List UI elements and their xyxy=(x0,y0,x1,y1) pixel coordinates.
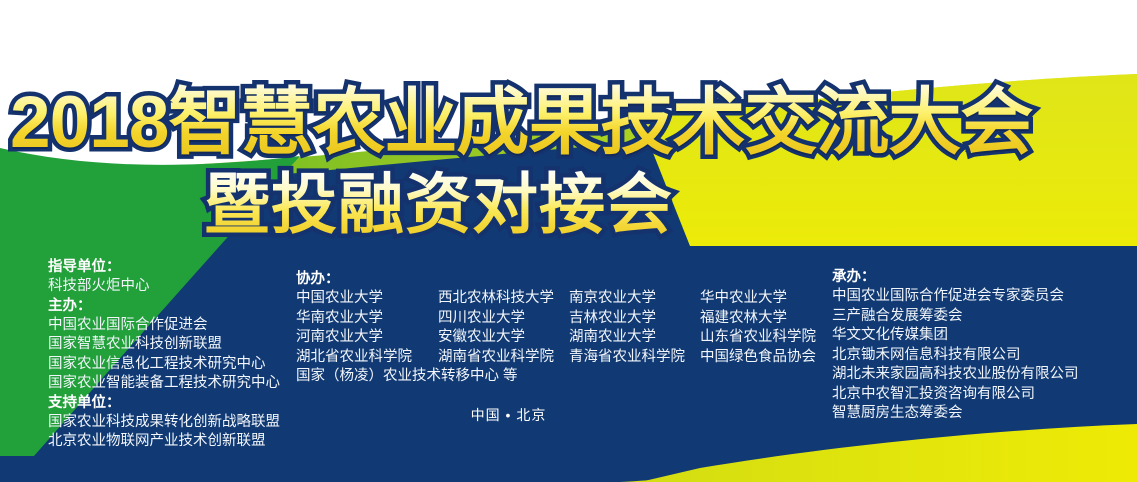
support-unit-item: 北京农业物联网产业技术创新联盟 xyxy=(48,432,378,452)
undertaker-item: 三产融合发展筹委会 xyxy=(832,307,1132,327)
undertaker-heading: 承办： xyxy=(832,268,1132,287)
undertaker-item: 中国农业国际合作促进会专家委员会 xyxy=(832,287,1132,307)
co-organizer-item: 华中农业大学 xyxy=(700,289,816,309)
co-organizer-item: 湖南省农业科学院 xyxy=(438,348,569,368)
event-location: 中国 • 北京 xyxy=(0,405,1137,425)
co-organizer-item: 安徽农业大学 xyxy=(438,328,569,348)
conference-banner: 2018智慧农业成果技术交流大会 2018智慧农业成果技术交流大会 暨投融资对接… xyxy=(0,0,1137,482)
co-organizer-row: 湖北省农业科学院 湖南省农业科学院 青海省农业科学院 中国绿色食品协会 xyxy=(296,348,816,368)
undertakers-column: 承办： 中国农业国际合作促进会专家委员会 三产融合发展筹委会 华文文化传媒集团 … xyxy=(832,268,1132,424)
co-organizer-item: 湖南农业大学 xyxy=(569,328,700,348)
undertaker-item: 湖北未来家园高科技农业股份有限公司 xyxy=(832,365,1132,385)
co-organizer-item: 青海省农业科学院 xyxy=(569,348,700,368)
undertaker-item: 华文文化传媒集团 xyxy=(832,326,1132,346)
co-organizer-item: 河南农业大学 xyxy=(296,328,438,348)
co-organizer-item: 国家（杨凌）农业技术转移中心 等 xyxy=(296,367,518,387)
co-organizer-item: 福建农林大学 xyxy=(700,309,816,329)
undertaker-item: 北京锄禾网信息科技有限公司 xyxy=(832,346,1132,366)
co-organizer-item: 中国农业大学 xyxy=(296,289,438,309)
co-organizer-item: 西北农林科技大学 xyxy=(438,289,569,309)
co-organizers-column: 协办： 中国农业大学 西北农林科技大学 南京农业大学 华中农业大学 华南农业大学… xyxy=(296,270,816,387)
co-organizer-item: 山东省农业科学院 xyxy=(700,328,816,348)
co-organizer-row: 河南农业大学 安徽农业大学 湖南农业大学 山东省农业科学院 xyxy=(296,328,816,348)
co-organizer-item: 中国绿色食品协会 xyxy=(700,348,816,368)
co-organizer-item: 四川农业大学 xyxy=(438,309,569,329)
co-organizer-heading: 协办： xyxy=(296,270,816,289)
co-organizer-row: 华南农业大学 四川农业大学 吉林农业大学 福建农林大学 xyxy=(296,309,816,329)
co-organizer-row: 国家（杨凌）农业技术转移中心 等 xyxy=(296,367,816,387)
co-organizer-item: 华南农业大学 xyxy=(296,309,438,329)
co-organizer-item: 湖北省农业科学院 xyxy=(296,348,438,368)
undertaker-item: 北京中农智汇投资咨询有限公司 xyxy=(832,385,1132,405)
co-organizer-row: 中国农业大学 西北农林科技大学 南京农业大学 华中农业大学 xyxy=(296,289,816,309)
co-organizer-item: 吉林农业大学 xyxy=(569,309,700,329)
co-organizer-item: 南京农业大学 xyxy=(569,289,700,309)
